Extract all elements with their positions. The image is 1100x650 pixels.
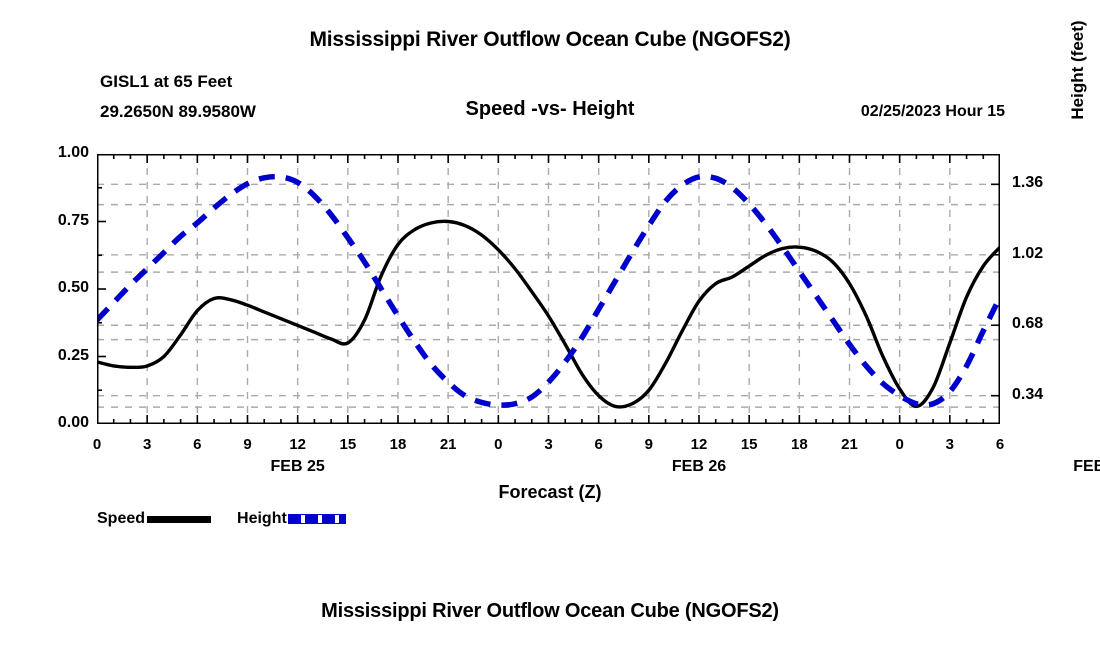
x-day-label: FEB 27 <box>1040 458 1100 476</box>
station-depth-label: GISL1 at 65 Feet <box>100 72 232 92</box>
y-tick-label-right: 1.02 <box>1012 245 1072 263</box>
chart-page: Mississippi River Outflow Ocean Cube (NG… <box>0 0 1100 650</box>
x-tick-label: 12 <box>278 436 318 453</box>
y-tick-label-right: 0.34 <box>1012 386 1072 404</box>
x-tick-label: 0 <box>478 436 518 453</box>
y-tick-label-right: 1.36 <box>1012 174 1072 192</box>
x-day-label: FEB 26 <box>639 458 759 476</box>
x-tick-label: 15 <box>729 436 769 453</box>
y-axis-right-title: Height (feet) <box>1068 0 1088 175</box>
plot-area <box>97 154 1000 424</box>
x-tick-label: 3 <box>529 436 569 453</box>
x-tick-label: 3 <box>127 436 167 453</box>
x-tick-label: 6 <box>980 436 1020 453</box>
chart-canvas <box>97 154 1000 424</box>
x-tick-label: 18 <box>378 436 418 453</box>
model-run-timestamp: 02/25/2023 Hour 15 <box>861 103 1005 121</box>
y-tick-label-left: 0.75 <box>33 212 89 230</box>
y-tick-label-left: 1.00 <box>33 144 89 162</box>
x-tick-label: 21 <box>428 436 468 453</box>
x-tick-label: 9 <box>228 436 268 453</box>
x-axis-title: Forecast (Z) <box>0 482 1100 503</box>
y-tick-label-left: 0.25 <box>33 347 89 365</box>
x-tick-label: 6 <box>177 436 217 453</box>
page-title: Mississippi River Outflow Ocean Cube (NG… <box>0 28 1100 52</box>
x-day-label: FEB 25 <box>238 458 358 476</box>
page-title-bottom: Mississippi River Outflow Ocean Cube (NG… <box>0 600 1100 623</box>
x-tick-label: 3 <box>930 436 970 453</box>
x-tick-label: 0 <box>77 436 117 453</box>
x-tick-label: 6 <box>579 436 619 453</box>
x-tick-label: 18 <box>779 436 819 453</box>
y-tick-label-left: 0.00 <box>33 414 89 432</box>
gridlines <box>97 154 1000 424</box>
y-tick-label-right: 0.68 <box>1012 315 1072 333</box>
legend-swatch-speed <box>147 516 211 523</box>
legend-label-speed: Speed <box>97 511 145 527</box>
chart-legend: Speed Height <box>97 508 346 530</box>
x-tick-label: 21 <box>830 436 870 453</box>
x-tick-label: 12 <box>679 436 719 453</box>
x-tick-label: 0 <box>880 436 920 453</box>
x-tick-label: 9 <box>629 436 669 453</box>
x-tick-label: 15 <box>328 436 368 453</box>
y-tick-label-left: 0.50 <box>33 279 89 297</box>
legend-swatch-height <box>288 514 346 524</box>
legend-label-height: Height <box>237 511 287 527</box>
